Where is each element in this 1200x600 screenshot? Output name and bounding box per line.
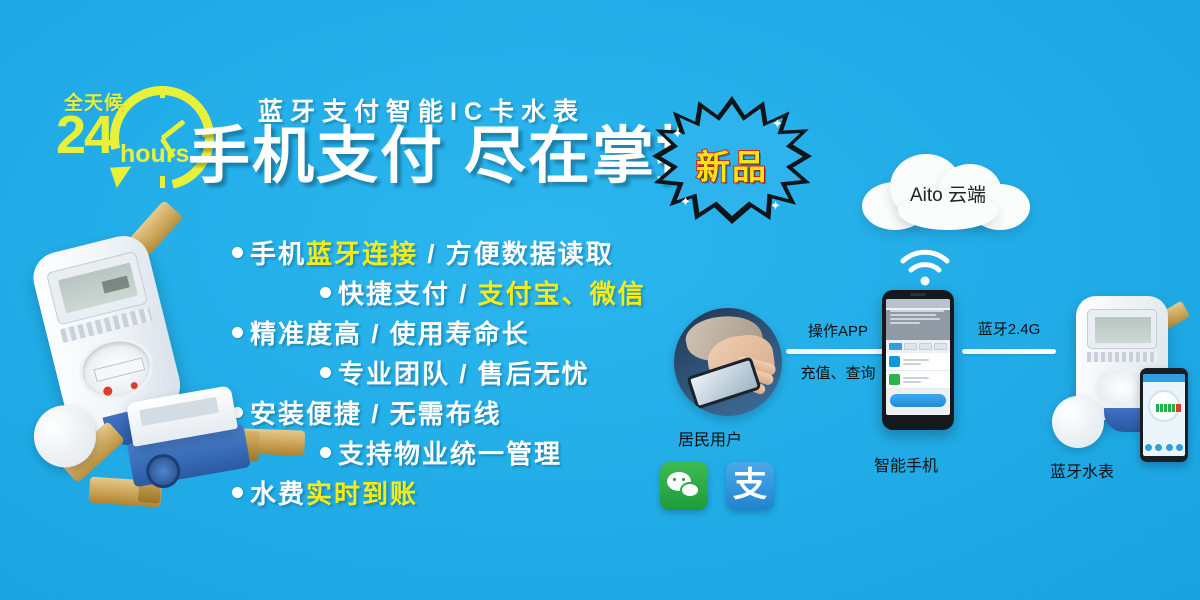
feature-text: 专业团队 / 售后无忧 bbox=[338, 354, 590, 391]
connector-app-bottom-label: 充值、查询 bbox=[786, 362, 890, 383]
badge-unit: hours bbox=[120, 142, 189, 167]
payment-label bbox=[903, 377, 947, 383]
feature-item: 快捷支付 / 支付宝、微信 bbox=[232, 272, 702, 312]
amount-chip[interactable] bbox=[889, 343, 902, 350]
caption-smartphone: 智能手机 bbox=[874, 452, 938, 476]
feature-item: 手机蓝牙连接 / 方便数据读取 bbox=[232, 232, 702, 272]
handheld-phone-shape bbox=[686, 356, 761, 409]
feature-text: 支持物业统一管理 bbox=[338, 434, 562, 471]
connector-line bbox=[786, 349, 890, 354]
mini-app-button[interactable] bbox=[1166, 444, 1173, 451]
banner-title: 手机支付尽在掌握 bbox=[188, 124, 720, 189]
mini-app-button[interactable] bbox=[1155, 444, 1162, 451]
mini-meter-dial bbox=[1148, 390, 1180, 422]
confirm-pay-button[interactable] bbox=[890, 394, 946, 407]
meter-cap bbox=[1052, 396, 1104, 448]
bullet-dot-icon bbox=[232, 327, 243, 338]
mini-app-button[interactable] bbox=[1145, 444, 1152, 451]
badge-number: 24 bbox=[56, 108, 112, 162]
alipay-glyph: 支 bbox=[726, 462, 774, 510]
phone-speaker-icon bbox=[910, 293, 926, 296]
amount-chip[interactable] bbox=[904, 343, 917, 350]
meter-keypad bbox=[1087, 352, 1157, 362]
feature-text: 手机蓝牙连接 / 方便数据读取 bbox=[250, 234, 614, 271]
app-info-panel bbox=[886, 310, 950, 340]
new-product-badge: ✦ ✦ ✦ ✦ 新品 bbox=[652, 96, 812, 224]
wifi-icon bbox=[898, 248, 952, 288]
payment-option-alipay[interactable] bbox=[886, 353, 950, 371]
payment-icons: 支 bbox=[660, 462, 774, 510]
meter-lcd-screen bbox=[1095, 317, 1151, 343]
wechat-icon bbox=[889, 374, 900, 385]
bullet-dot-icon bbox=[232, 247, 243, 258]
connector-bluetooth-label: 蓝牙2.4G bbox=[962, 318, 1056, 339]
bullet-dot-icon bbox=[320, 287, 331, 298]
feature-item: 安装便捷 / 无需布线 bbox=[232, 392, 702, 432]
resident-user-photo bbox=[674, 308, 782, 416]
sparkle-icon: ✦ bbox=[770, 198, 781, 214]
cloud-label: Aito 云端 bbox=[862, 180, 1034, 207]
sparkle-icon: ✦ bbox=[772, 116, 783, 132]
banner-title-left: 手机支付 bbox=[188, 122, 444, 191]
meter-lcd-screen bbox=[58, 262, 138, 313]
connector-line bbox=[962, 349, 1056, 354]
app-status-bar bbox=[886, 299, 950, 308]
phone-screen: ◁ ○ □ bbox=[886, 299, 950, 415]
amount-chip[interactable] bbox=[934, 343, 947, 350]
meter-dial-pointer-icon bbox=[130, 381, 138, 389]
feature-item: 精准度高 / 使用寿命长 bbox=[232, 312, 702, 352]
feature-text: 快捷支付 / 支付宝、微信 bbox=[338, 274, 646, 311]
payment-label bbox=[903, 359, 947, 365]
meter-dial-pointer-icon bbox=[102, 386, 113, 397]
feature-text: 精准度高 / 使用寿命长 bbox=[250, 314, 530, 351]
bullet-dot-icon bbox=[320, 367, 331, 378]
connector-bluetooth: 蓝牙2.4G bbox=[962, 318, 1056, 354]
alipay-icon bbox=[889, 356, 900, 367]
caption-bluetooth-meter: 蓝牙水表 bbox=[1050, 458, 1114, 482]
cloud-badge: Aito 云端 bbox=[862, 152, 1034, 230]
connector-app: 操作APP 充值、查询 bbox=[786, 320, 890, 383]
payment-option-wechat[interactable] bbox=[886, 371, 950, 389]
mini-app-button[interactable] bbox=[1176, 444, 1183, 451]
smartphone-device: ◁ ○ □ bbox=[882, 290, 954, 430]
meter-lcd-frame bbox=[1087, 309, 1157, 349]
caption-resident-user: 居民用户 bbox=[678, 426, 742, 450]
bullet-dot-icon bbox=[320, 447, 331, 458]
mini-phone-screen bbox=[1143, 374, 1185, 456]
alipay-icon[interactable]: 支 bbox=[726, 462, 774, 510]
mini-odometer bbox=[1156, 404, 1176, 412]
meter-reading-phone bbox=[1140, 368, 1188, 462]
clock-tick-icon bbox=[160, 86, 165, 98]
new-product-label: 新品 bbox=[652, 140, 812, 189]
promo-banner: 全天候 24 hours 蓝牙支付智能IC卡水表 手机支付尽在掌握 ✦ ✦ ✦ … bbox=[0, 0, 1200, 600]
meter-odometer bbox=[94, 357, 146, 382]
connector-app-top-label: 操作APP bbox=[786, 320, 890, 341]
mini-odometer-red bbox=[1176, 404, 1181, 412]
feature-item: 专业团队 / 售后无忧 bbox=[232, 352, 702, 392]
sparkle-icon: ✦ bbox=[680, 194, 691, 210]
mini-app-header bbox=[1143, 374, 1185, 382]
clock-tick-icon bbox=[160, 176, 165, 188]
wechat-pay-icon[interactable] bbox=[660, 462, 708, 510]
app-amount-chips[interactable] bbox=[886, 340, 950, 353]
amount-chip[interactable] bbox=[919, 343, 932, 350]
mini-app-buttons[interactable] bbox=[1143, 444, 1185, 451]
